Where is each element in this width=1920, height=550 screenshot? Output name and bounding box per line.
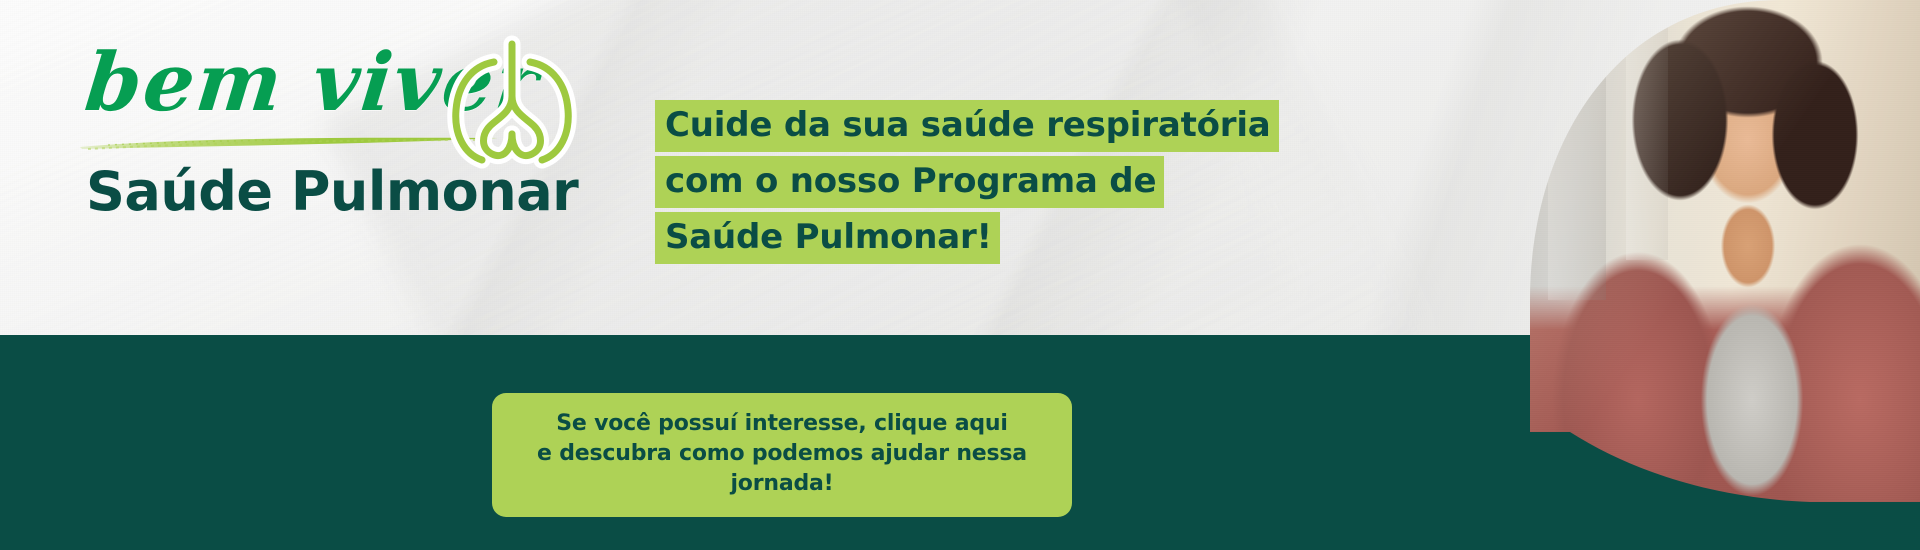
headline-line-3: Saúde Pulmonar! xyxy=(655,212,1000,264)
cta-line-2: e descubra como podemos ajudar nessa jor… xyxy=(512,439,1052,499)
cta-line-1: Se você possuí interesse, clique aqui xyxy=(512,409,1052,439)
cta-button[interactable]: Se você possuí interesse, clique aqui e … xyxy=(492,393,1072,517)
band-overlap-photo xyxy=(1480,320,1920,550)
headline-line-1: Cuide da sua saúde respiratória xyxy=(655,100,1279,152)
headline-line-2: com o nosso Programa de xyxy=(655,156,1164,208)
lungs-icon xyxy=(432,22,592,174)
headline-block: Cuide da sua saúde respiratória com o no… xyxy=(655,100,1255,268)
health-campaign-banner: bem viver Saúde Pulmonar xyxy=(0,0,1920,550)
